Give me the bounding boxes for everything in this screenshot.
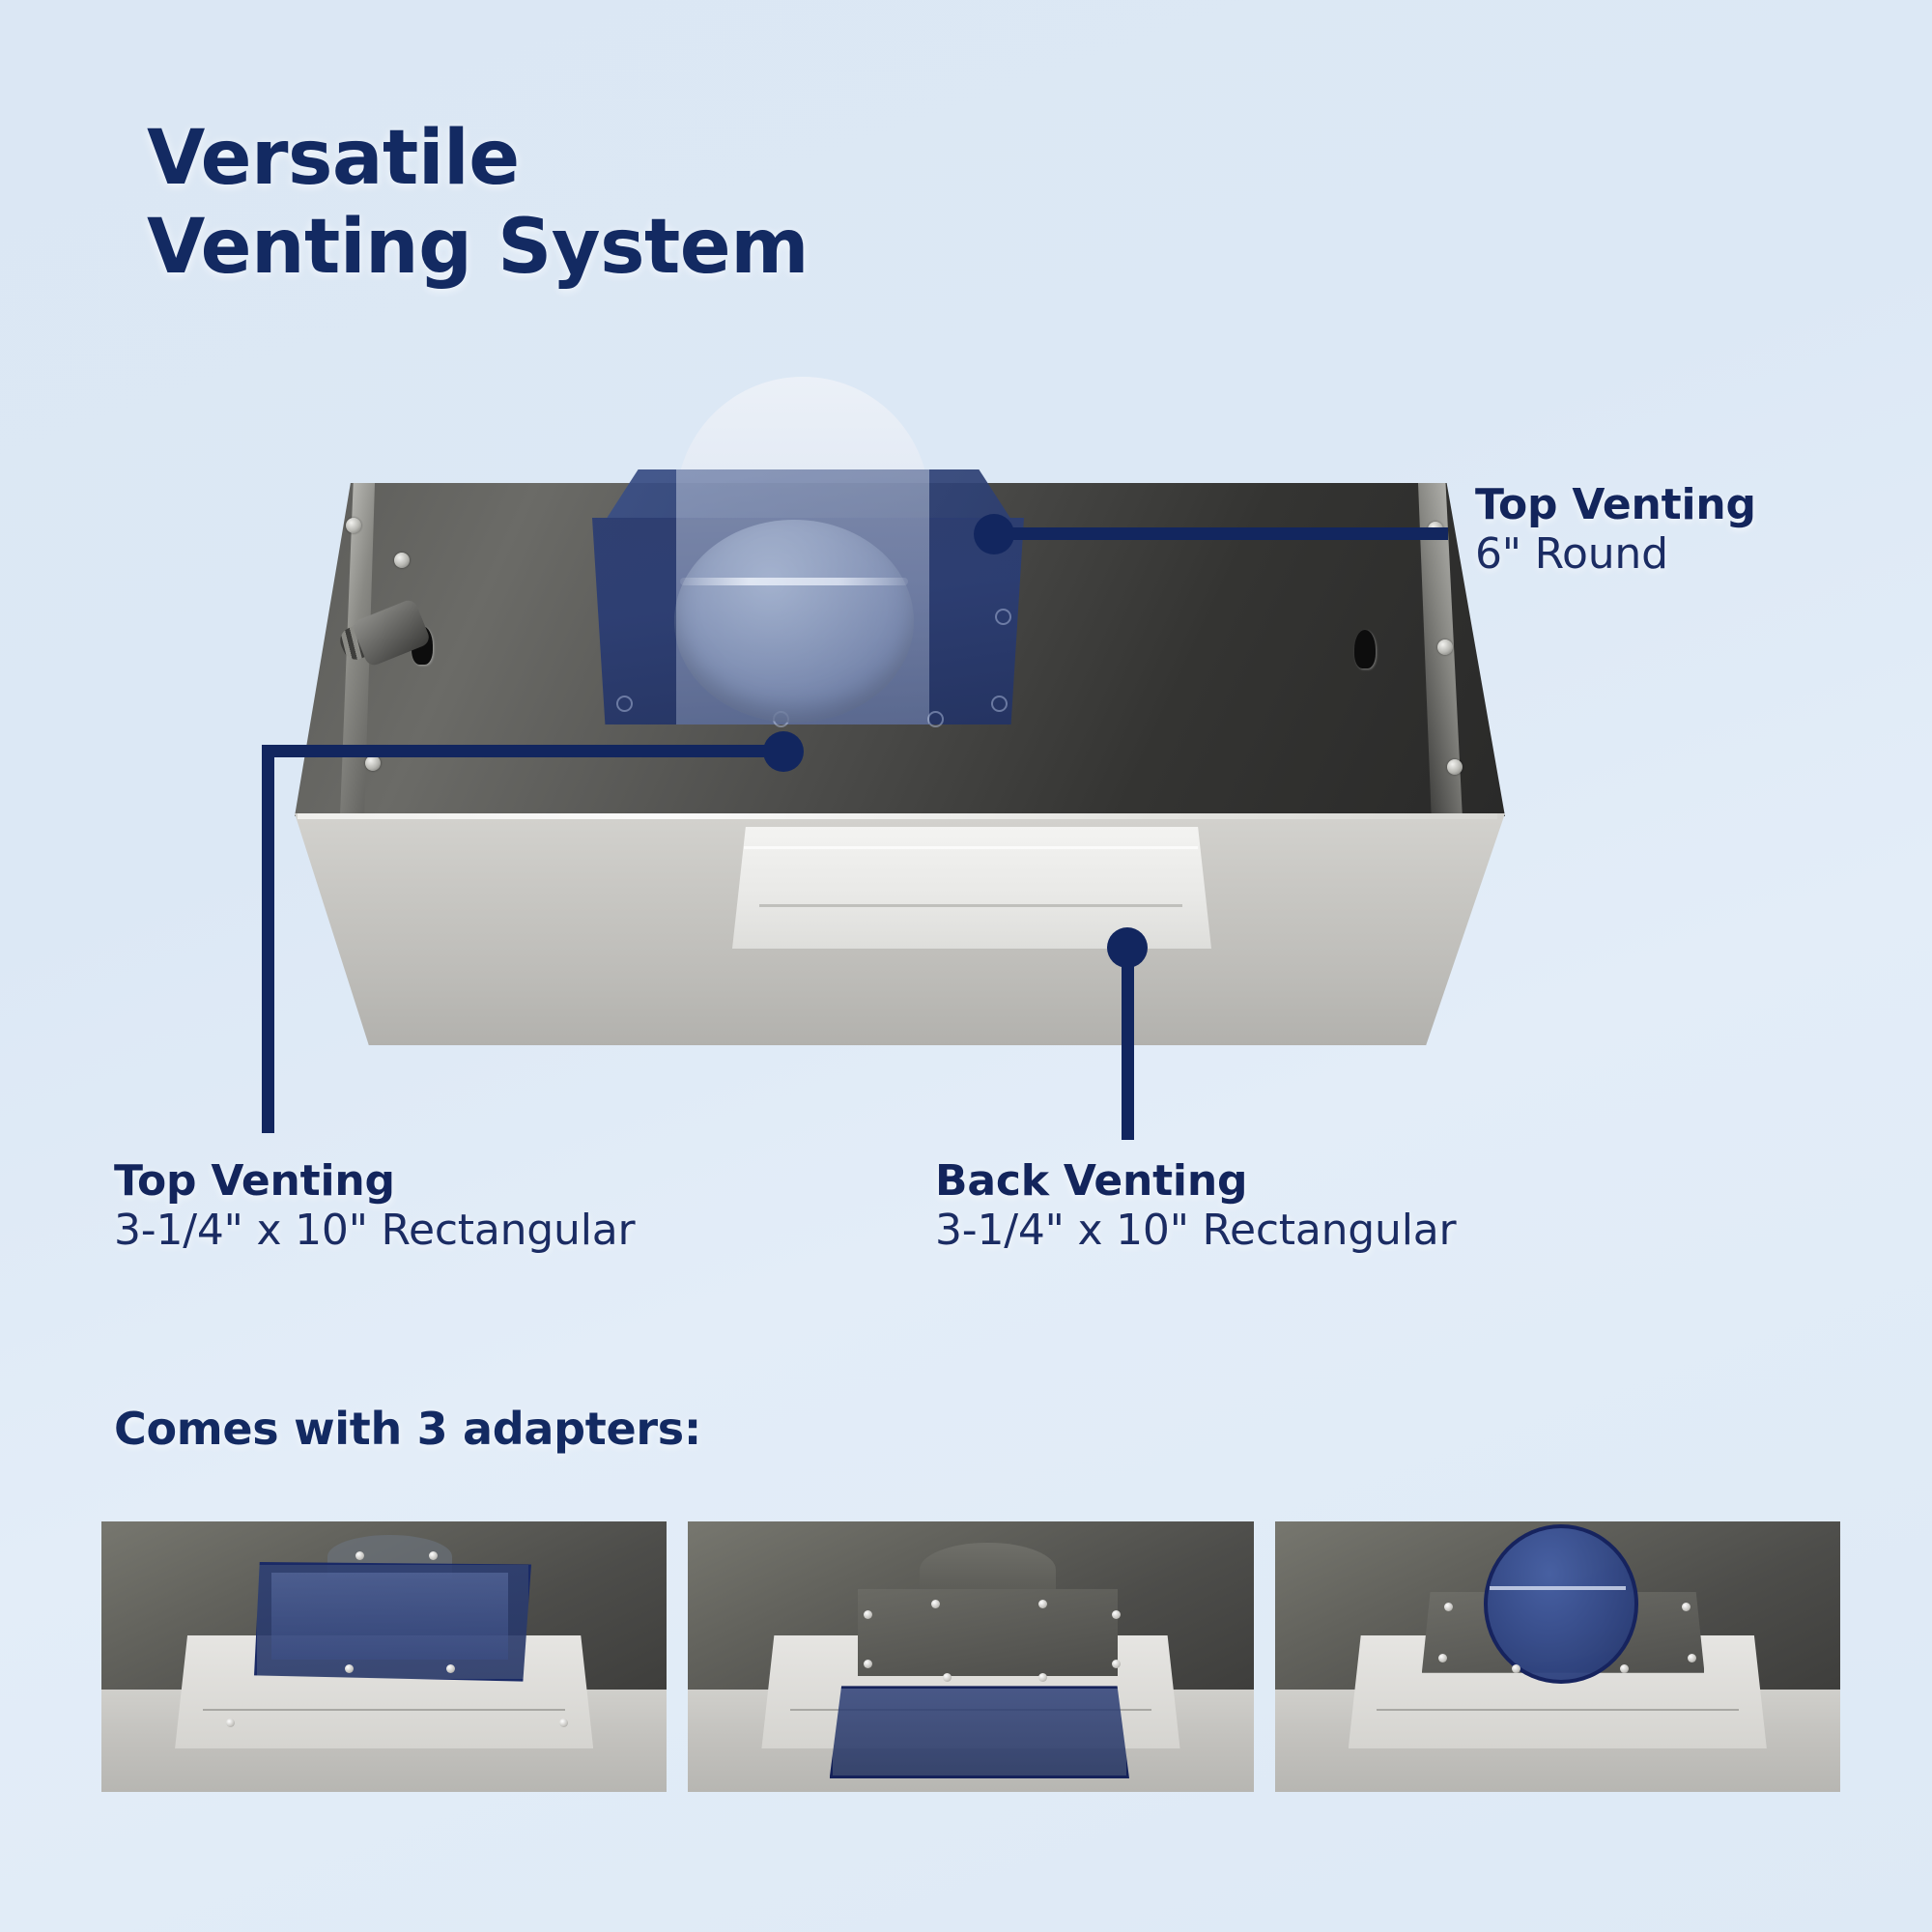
- callout-subtitle: 3-1/4" x 10" Rectangular: [114, 1206, 635, 1257]
- callout-title: Back Venting: [935, 1157, 1456, 1206]
- round-adapter-band: [1490, 1586, 1625, 1590]
- page-title: Versatile Venting System: [147, 114, 809, 292]
- callout-top-venting-round: Top Venting 6" Round: [1475, 481, 1756, 581]
- adapter-thumbnail-row: [101, 1521, 1840, 1792]
- product-illustration: [290, 377, 1642, 1034]
- back-vent-plate: [732, 827, 1211, 949]
- back-vent-center-line: [759, 904, 1182, 907]
- adapter-thumbnail-back-rectangular[interactable]: [688, 1521, 1253, 1792]
- screw-dot: [943, 1673, 952, 1682]
- callout-subtitle: 6" Round: [1475, 529, 1756, 581]
- thumb-vent-line: [1377, 1709, 1739, 1711]
- cover-plate-shape: [858, 1589, 1118, 1676]
- leader-line-top-round: [994, 527, 1448, 540]
- leader-line-top-rectangular-vertical: [262, 745, 274, 1133]
- screw: [1447, 759, 1463, 775]
- adapter-thumbnail-round[interactable]: [1275, 1521, 1840, 1792]
- adapters-heading: Comes with 3 adapters:: [114, 1403, 701, 1455]
- screw-dot: [1038, 1673, 1047, 1682]
- screw: [394, 553, 410, 568]
- back-vent-top-line: [744, 846, 1198, 849]
- adapter-screw: [616, 696, 633, 712]
- keyhole-slot: [1354, 630, 1376, 668]
- infographic-canvas: Versatile Venting System: [0, 0, 1932, 1932]
- screw-dot: [1682, 1603, 1690, 1611]
- hood-front-seam: [298, 813, 1497, 819]
- leader-line-top-rectangular-horizontal: [262, 745, 779, 757]
- adapter-screw: [927, 711, 944, 727]
- thumb-vent-line: [203, 1709, 565, 1711]
- callout-back-venting-rectangular: Back Venting 3-1/4" x 10" Rectangular: [935, 1157, 1456, 1257]
- screw: [346, 518, 361, 533]
- callout-title: Top Venting: [1475, 481, 1756, 529]
- callout-top-venting-rectangular: Top Venting 3-1/4" x 10" Rectangular: [114, 1157, 635, 1257]
- adapter-thumbnail-top-rectangular[interactable]: [101, 1521, 667, 1792]
- screw-dot: [864, 1660, 872, 1668]
- ghost-duct-overlay: [676, 469, 929, 724]
- callout-title: Top Venting: [114, 1157, 635, 1206]
- adapter-screw: [995, 609, 1011, 625]
- screw: [365, 755, 381, 771]
- screw: [1437, 639, 1453, 655]
- round-adapter-shape: [1484, 1524, 1638, 1684]
- rectangular-adapter-inner: [271, 1573, 509, 1660]
- adapter-screw: [991, 696, 1008, 712]
- leader-line-back-vent: [1122, 947, 1134, 1140]
- callout-subtitle: 3-1/4" x 10" Rectangular: [935, 1206, 1456, 1257]
- rectangular-adapter-shape: [830, 1686, 1129, 1778]
